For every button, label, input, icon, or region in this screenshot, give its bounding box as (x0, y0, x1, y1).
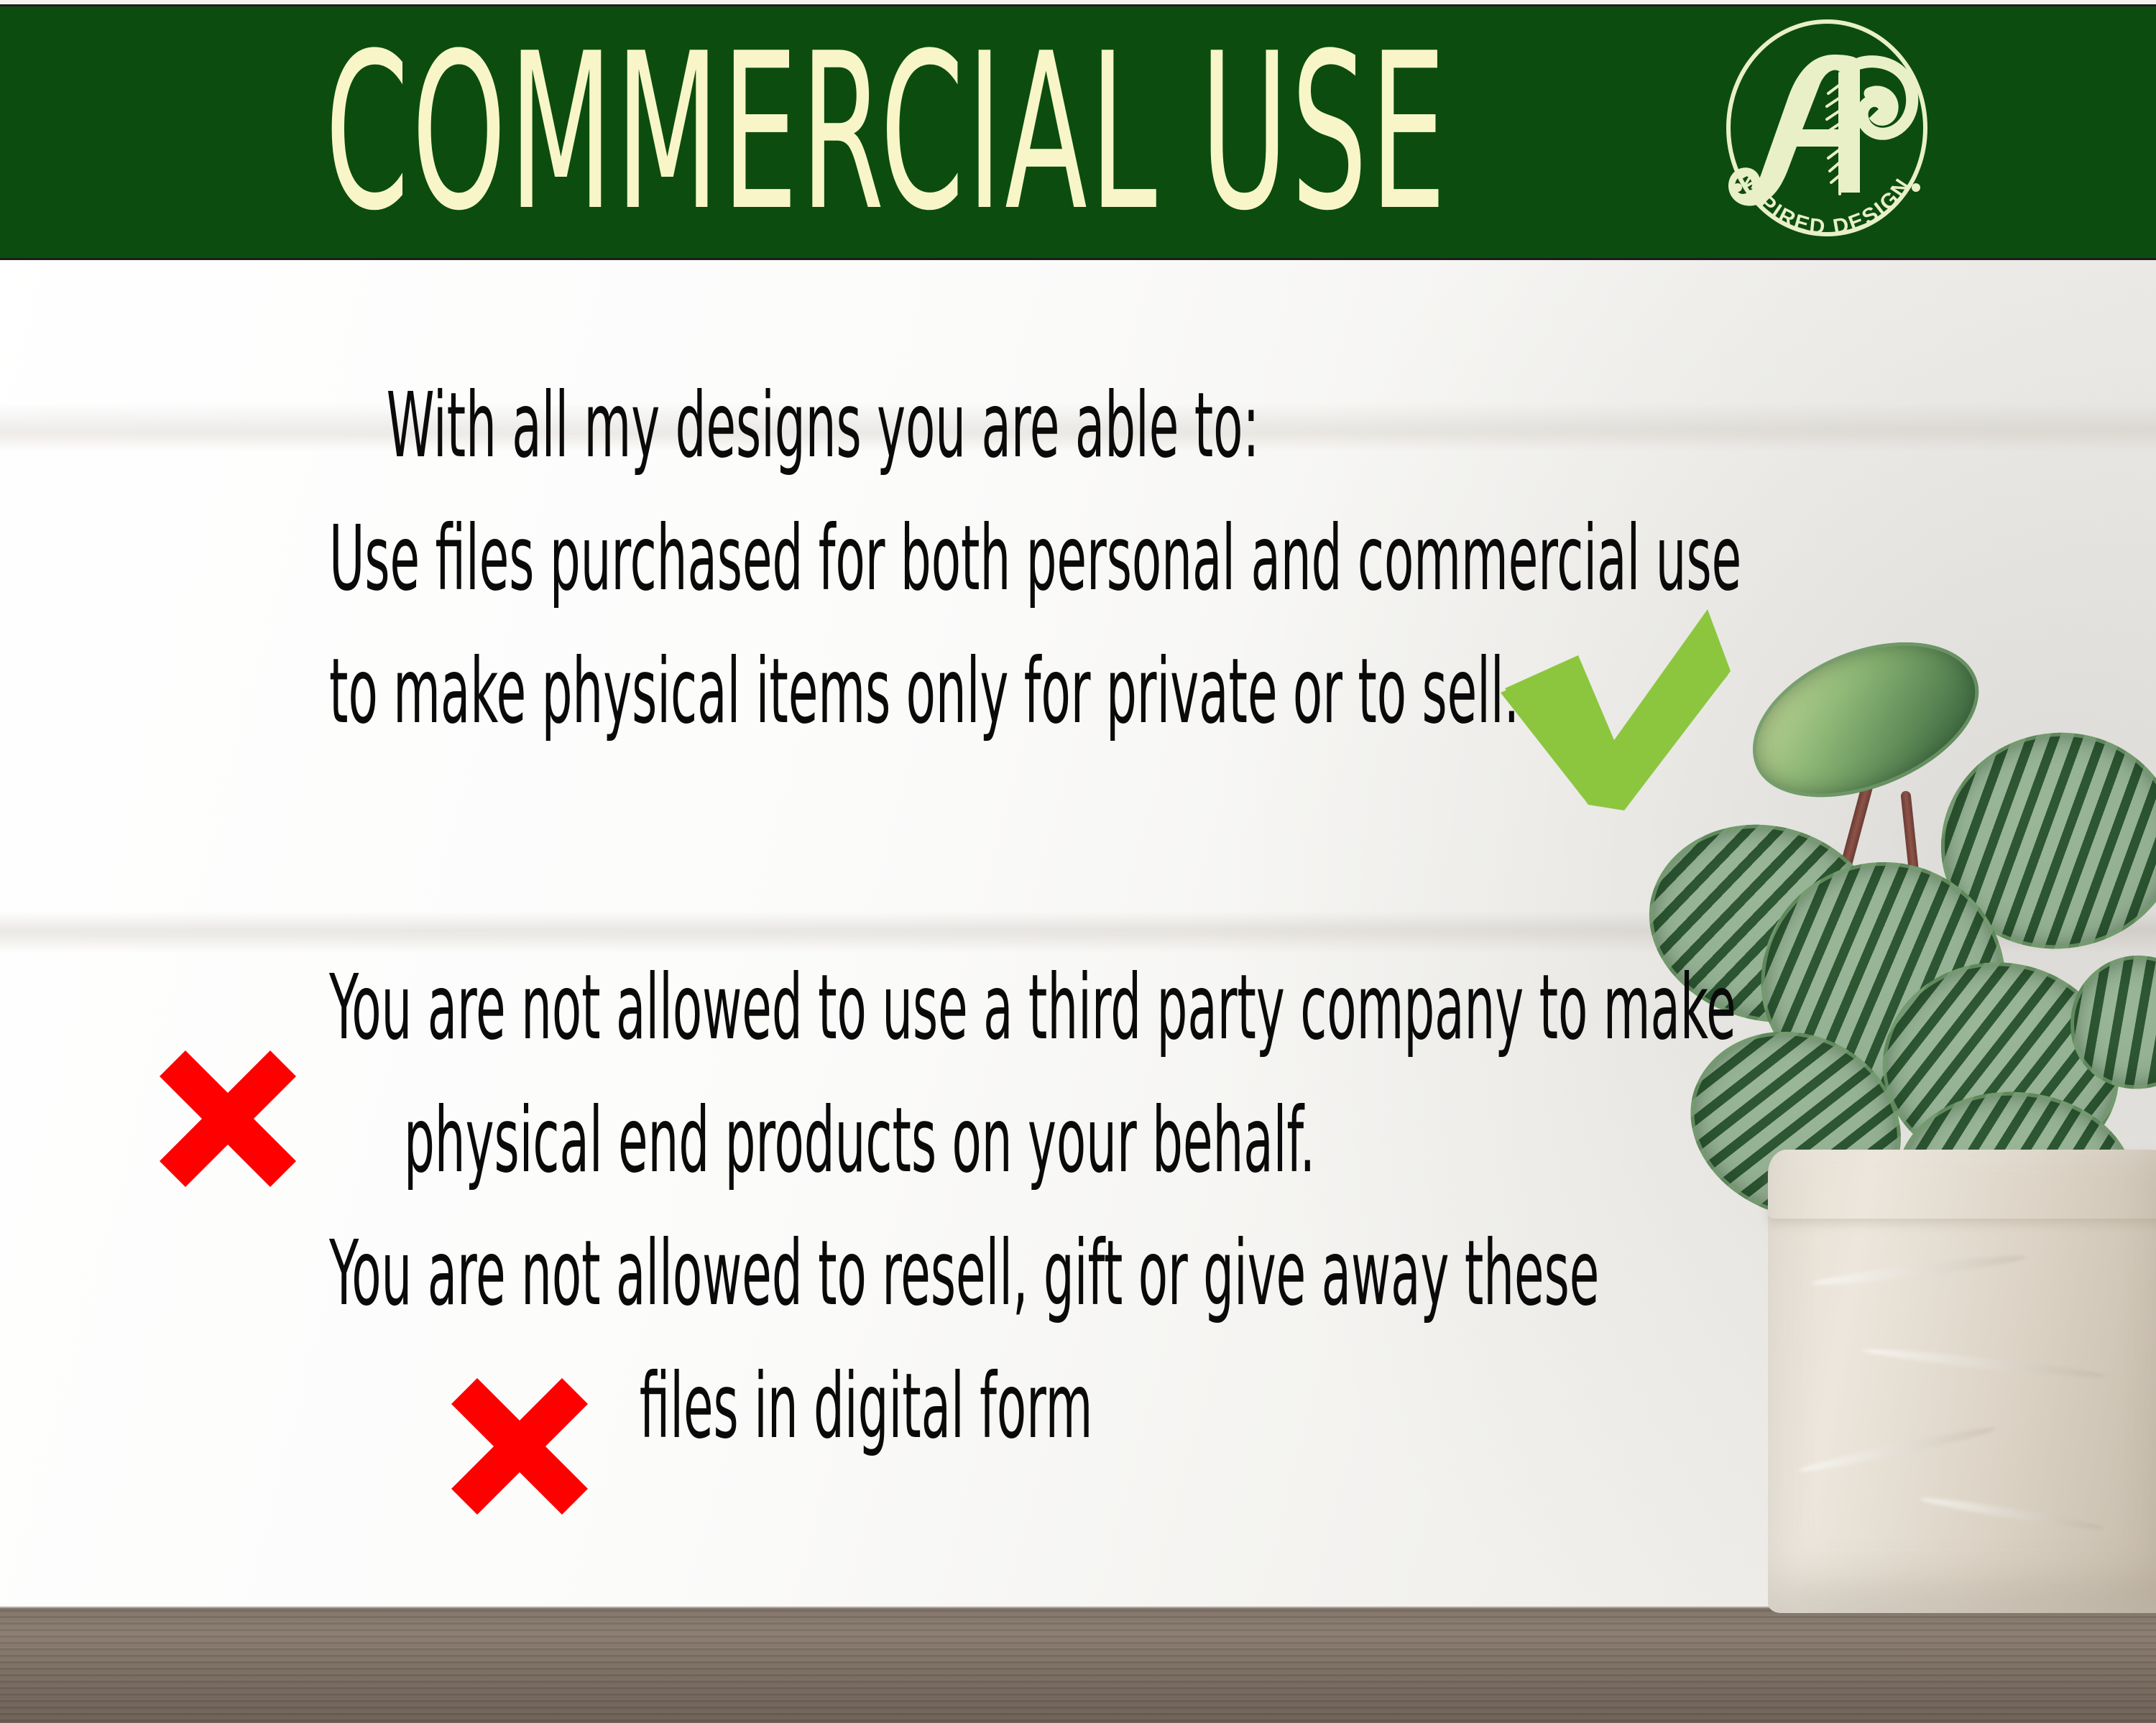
allowed-line-2: Use files purchased for both personal an… (329, 492, 1317, 625)
not-allowed-line-3: You are not allowed to resell, gift or g… (329, 1207, 1317, 1340)
not-allowed-text-block: You are not allowed to use a third party… (0, 941, 1646, 1473)
not-allowed-line-1: You are not allowed to use a third party… (329, 941, 1317, 1074)
wood-shelf (0, 1608, 2156, 1723)
page-title: COMMERCIAL USE (325, 18, 1386, 248)
paper-bag-planter (1768, 1150, 2156, 1613)
allowed-line-1: With all my designs you are able to: (329, 359, 1317, 492)
green-check-icon (1493, 609, 1731, 810)
not-allowed-line-2: physical end products on your behalf. (329, 1074, 1317, 1207)
allowed-text-block: With all my designs you are able to: Use… (0, 359, 1646, 758)
red-x-icon (160, 1050, 296, 1187)
brand-logo: INSPIRED DESIGNS (1719, 13, 1935, 250)
allowed-line-3: to make physical items only for private … (329, 625, 1317, 758)
red-x-icon (451, 1378, 588, 1515)
commercial-use-graphic: COMMERCIAL USE INSPIRED DESIGNS (0, 0, 2156, 1723)
planter-cuff (1768, 1150, 2156, 1219)
